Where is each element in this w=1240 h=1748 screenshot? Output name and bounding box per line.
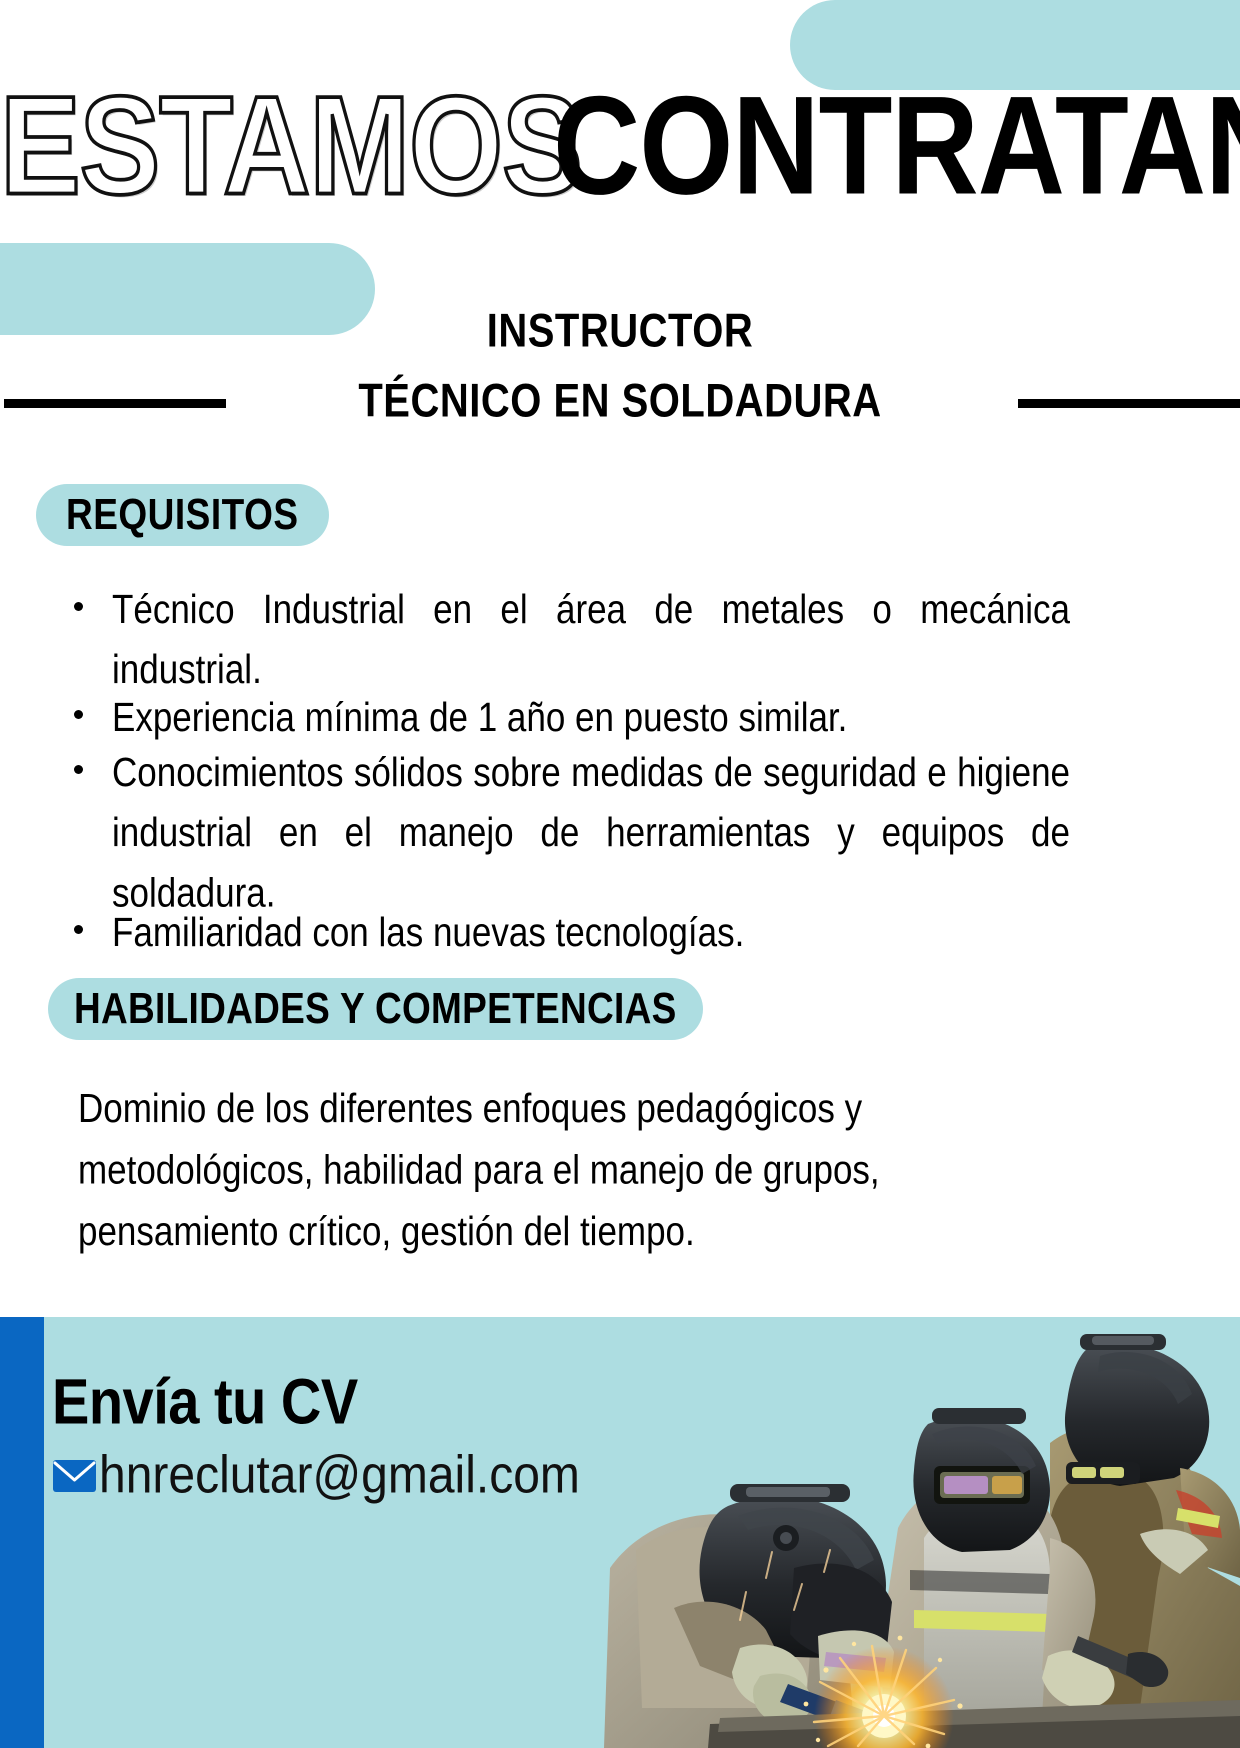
job-title: INSTRUCTOR TÉCNICO EN SOLDADURA [0, 296, 1240, 426]
requisito-text-1: Experiencia mínima de 1 año en puesto si… [112, 688, 1070, 748]
welders-photo [580, 1238, 1240, 1748]
habilidades-paragraph: Dominio de los diferentes enfoques pedag… [78, 1078, 1008, 1238]
welders-illustration [580, 1238, 1240, 1748]
requisito-text-3: Familiaridad con las nuevas tecnologías. [112, 903, 1070, 963]
contact-email[interactable]: hnreclutar@gmail.com [99, 1450, 580, 1503]
list-item: Técnico Industrial en el área de metales… [60, 580, 1070, 684]
section-badge-habilidades-label: HABILIDADES Y COMPETENCIAS [74, 984, 677, 1034]
envelope-icon [52, 1459, 97, 1493]
section-badge-requisitos: REQUISITOS [36, 484, 329, 546]
section-badge-habilidades: HABILIDADES Y COMPETENCIAS [48, 978, 703, 1040]
job-title-line-2: TÉCNICO EN SOLDADURA [0, 366, 1240, 437]
headline: ESTAMOSCONTRATANDO [0, 104, 1240, 216]
send-cv-title: Envía tu CV [52, 1370, 580, 1434]
job-poster: ESTAMOSCONTRATANDO INSTRUCTOR TÉCNICO EN… [0, 0, 1240, 1748]
headline-word-estamos: ESTAMOS [0, 76, 582, 216]
footer-blue-bar [0, 1317, 44, 1748]
requisitos-list: Técnico Industrial en el área de metales… [60, 580, 1070, 959]
headline-word-contratando: CONTRATANDO [553, 76, 1240, 216]
list-item: Familiaridad con las nuevas tecnologías. [60, 903, 1070, 955]
job-title-line-1: INSTRUCTOR [0, 296, 1240, 367]
list-item: Experiencia mínima de 1 año en puesto si… [60, 688, 1070, 740]
footer-contact: Envía tu CV hnreclutar@gmail.com [52, 1370, 580, 1500]
email-row[interactable]: hnreclutar@gmail.com [52, 1452, 580, 1500]
requisito-text-2: Conocimientos sólidos sobre medidas de s… [112, 743, 1070, 923]
list-item: Conocimientos sólidos sobre medidas de s… [60, 743, 1070, 898]
section-badge-requisitos-label: REQUISITOS [66, 490, 299, 540]
habilidades-text: Dominio de los diferentes enfoques pedag… [78, 1078, 1008, 1263]
requisito-text-0: Técnico Industrial en el área de metales… [112, 580, 1070, 700]
